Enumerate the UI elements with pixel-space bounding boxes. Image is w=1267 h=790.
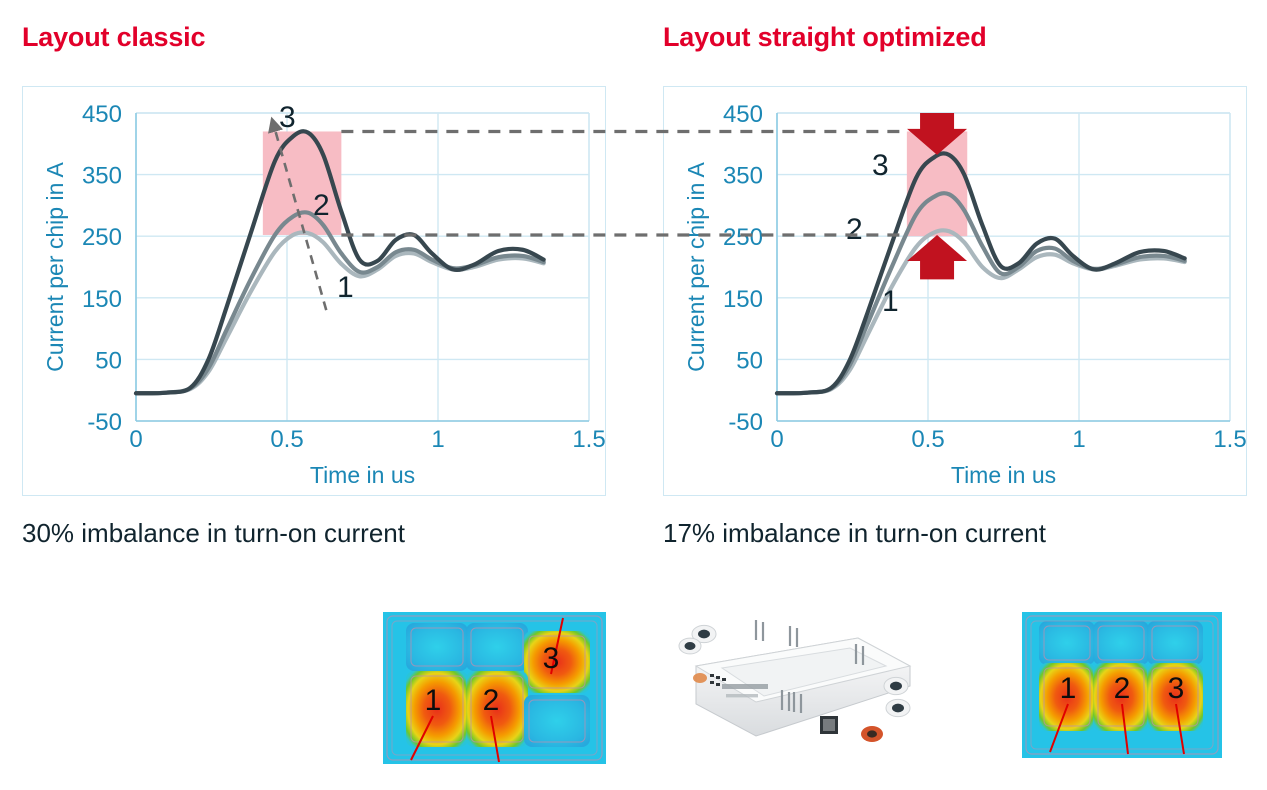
caption-right: 17% imbalance in turn-on current — [663, 518, 1046, 549]
x-tick-label: 0.5 — [911, 426, 944, 453]
x-tick-label: 1 — [431, 426, 444, 453]
mounting-hole — [685, 642, 696, 650]
series-label-2: 2 — [846, 213, 863, 246]
curve-chip-3 — [777, 153, 1185, 393]
y-tick-label: 50 — [736, 347, 763, 374]
chip-label-2: 2 — [1114, 672, 1131, 705]
module-sub-label — [726, 694, 758, 697]
x-tick-label: 1.5 — [1213, 426, 1246, 453]
caption-left: 30% imbalance in turn-on current — [22, 518, 405, 549]
chip-cell — [1147, 621, 1203, 665]
module-vent — [722, 678, 726, 681]
chip-label-2: 2 — [483, 684, 500, 717]
y-tick-label: 250 — [723, 224, 763, 251]
thermal-map-classic: 312 — [383, 612, 606, 764]
module-vent — [710, 681, 714, 684]
y-tick-label: 450 — [82, 101, 122, 128]
curve-chip-1 — [136, 232, 544, 393]
chart-panel-classic: 123-505015025035045000.511.5Current per … — [22, 86, 606, 496]
chip-cell — [1039, 621, 1095, 665]
series-label-3: 3 — [872, 149, 889, 182]
curve-chip-1 — [777, 230, 1185, 393]
mounting-hole — [890, 682, 902, 691]
y-axis-title: Current per chip in A — [42, 162, 68, 372]
chip-label-3: 3 — [1168, 672, 1185, 705]
chip-label-1: 1 — [425, 684, 442, 717]
module-vent — [710, 674, 714, 677]
y-tick-label: 450 — [723, 101, 763, 128]
chip-label-3: 3 — [543, 642, 560, 675]
y-tick-label: 150 — [723, 286, 763, 313]
series-label-1: 1 — [882, 285, 899, 318]
y-axis-title: Current per chip in A — [683, 162, 709, 372]
slide-root: Layout classic Layout straight optimized… — [0, 0, 1267, 790]
y-tick-label: 150 — [82, 286, 122, 313]
panel-title-left: Layout classic — [22, 22, 205, 53]
power-module-photo — [660, 608, 920, 768]
chart-classic: 123-505015025035045000.511.5Current per … — [23, 87, 607, 497]
mounting-hole — [698, 630, 710, 639]
y-tick-label: 50 — [95, 347, 122, 374]
x-tick-label: 0 — [770, 426, 783, 453]
y-tick-label: -50 — [87, 409, 122, 436]
x-tick-label: 1 — [1072, 426, 1085, 453]
x-tick-label: 0 — [129, 426, 142, 453]
chip-cell — [524, 695, 590, 747]
y-tick-label: -50 — [728, 409, 763, 436]
panel-title-right: Layout straight optimized — [663, 22, 987, 53]
chart-panel-optimized: 123-505015025035045000.511.5Current per … — [663, 86, 1247, 496]
series-label-1: 1 — [337, 271, 354, 304]
y-tick-label: 250 — [82, 224, 122, 251]
thermal-map-optimized: 123 — [1022, 612, 1222, 758]
x-tick-label: 1.5 — [572, 426, 605, 453]
y-tick-label: 350 — [82, 163, 122, 190]
mounting-hole — [892, 704, 904, 713]
module-vent — [716, 683, 720, 686]
chip-cell — [466, 623, 528, 671]
chip-label-1: 1 — [1060, 672, 1077, 705]
series-label-3: 3 — [279, 101, 296, 134]
terminal-ring — [693, 673, 707, 683]
chart-optimized: 123-505015025035045000.511.5Current per … — [664, 87, 1248, 497]
module-vent — [716, 676, 720, 679]
x-axis-title: Time in us — [951, 462, 1056, 488]
y-tick-label: 350 — [723, 163, 763, 190]
raise-min-arrow — [907, 235, 967, 279]
chip-cell — [1093, 621, 1149, 665]
x-axis-title: Time in us — [310, 462, 415, 488]
series-label-2: 2 — [313, 189, 330, 222]
module-part-label — [722, 684, 768, 689]
chip-cell — [406, 623, 468, 671]
x-tick-label: 0.5 — [270, 426, 303, 453]
